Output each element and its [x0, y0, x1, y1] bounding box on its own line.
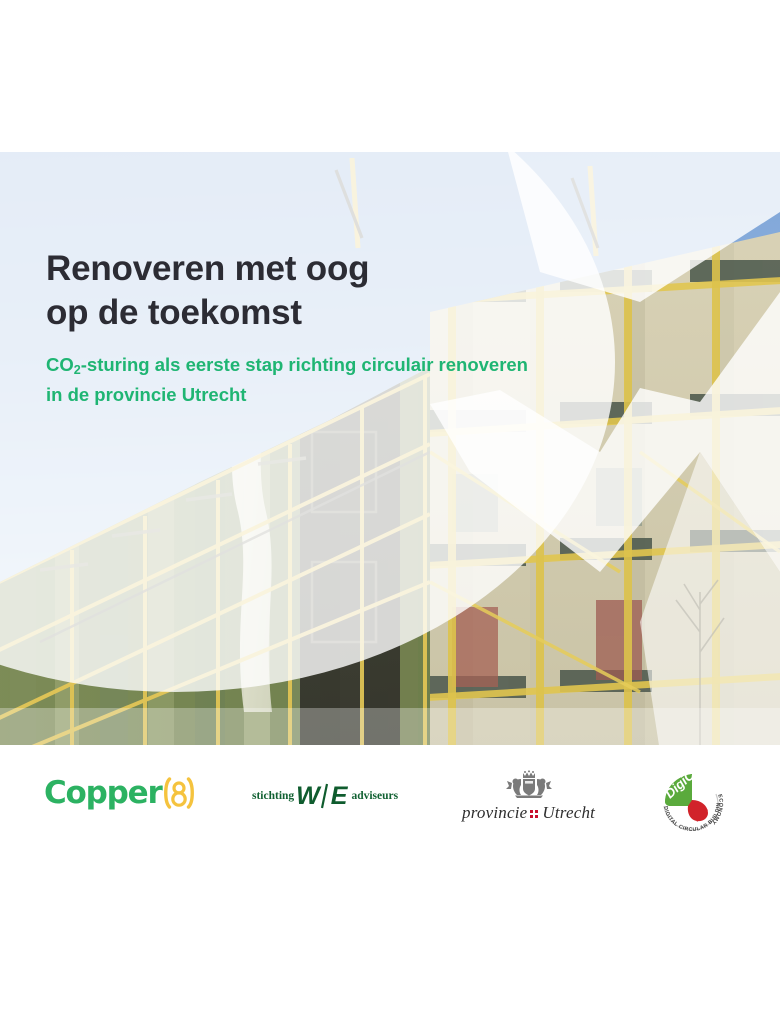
utrecht-coat-of-arms-icon [501, 770, 557, 800]
utrecht-word-left: provincie [462, 803, 527, 822]
copper8-wordmark: Copper [44, 778, 162, 809]
partner-logo-row: Copper Copper8 stichting W E adviseurs [0, 770, 780, 850]
utrecht-wordmark: provincieUtrecht [462, 803, 595, 823]
logo-digic[interactable]: DigiC ECONOMY DIGITAL CIRCULAR BUILDING … [655, 766, 729, 840]
renovation-photograph [0, 152, 780, 745]
top-white-margin [0, 0, 780, 152]
we-divider-icon [321, 783, 329, 809]
we-prefix-label: stichting [252, 790, 294, 802]
utrecht-word-right: Utrecht [542, 803, 595, 822]
cover-title-block: Renoveren met oog op de toekomst CO2-stu… [46, 247, 636, 408]
subtitle-rest: -sturing als eerste stap richting circul… [46, 354, 528, 405]
we-mark-w: W [294, 784, 321, 809]
utrecht-separator-dots-icon [530, 809, 539, 820]
hero-image: Renoveren met oog op de toekomst CO2-stu… [0, 152, 780, 745]
subtitle-co2-prefix: CO [46, 354, 74, 375]
page-subtitle: CO2-sturing als eerste stap richting cir… [46, 335, 636, 408]
subtitle-co2-subscript: 2 [74, 363, 81, 377]
we-suffix-label: adviseurs [348, 790, 398, 802]
logo-provincie-utrecht[interactable]: provincieUtrecht provincie :: Utrecht [462, 770, 595, 823]
cover-page: Renoveren met oog op de toekomst CO2-stu… [0, 0, 780, 1024]
photo-illustration [0, 152, 780, 745]
digic-circular-emblem-icon: DigiC ECONOMY DIGITAL CIRCULAR BUILDING [655, 766, 729, 840]
logo-stichting-we-adviseurs[interactable]: stichting W E adviseurs stichting W|E ad… [252, 783, 398, 809]
page-title: Renoveren met oog op de toekomst [46, 247, 636, 335]
copper8-mark-icon [162, 776, 196, 810]
we-mark-e: E [329, 784, 349, 809]
footer: Copper Copper8 stichting W E adviseurs [0, 745, 780, 1024]
logo-copper8[interactable]: Copper Copper8 [44, 776, 196, 810]
